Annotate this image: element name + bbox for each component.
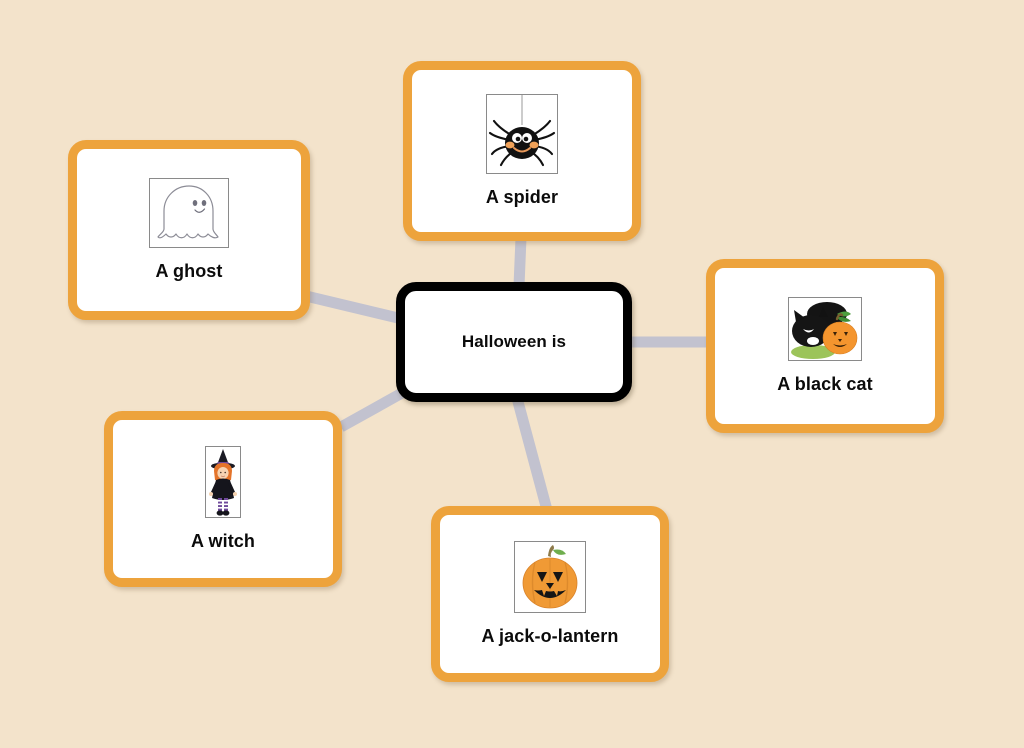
central-node-label: Halloween is [462,333,566,352]
black-cat-with-pumpkin-icon [788,297,862,361]
node-ghost[interactable]: A ghost [68,140,310,320]
node-witch-label: A witch [191,532,255,552]
node-jack-o-lantern[interactable]: A jack-o-lantern [431,506,669,682]
connector-central-to-spider [519,238,521,286]
hanging-spider-icon [486,94,558,174]
witch-girl-icon [205,446,241,518]
connector-central-to-witch [341,393,402,427]
node-black-cat-label: A black cat [777,375,872,395]
node-jack-o-lantern-label: A jack-o-lantern [482,627,619,647]
node-spider-label: A spider [486,188,558,208]
node-ghost-label: A ghost [155,262,222,282]
connector-central-to-ghost [306,296,398,318]
connector-central-to-jack-o-lantern [517,398,547,510]
node-black-cat[interactable]: A black cat [706,259,944,433]
jack-o-lantern-icon [514,541,586,613]
ghost-outline-icon [149,178,229,248]
node-central-halloween[interactable]: Halloween is [396,282,632,402]
node-witch[interactable]: A witch [104,411,342,587]
node-spider[interactable]: A spider [403,61,641,241]
mindmap-canvas: A ghost [0,0,1024,748]
